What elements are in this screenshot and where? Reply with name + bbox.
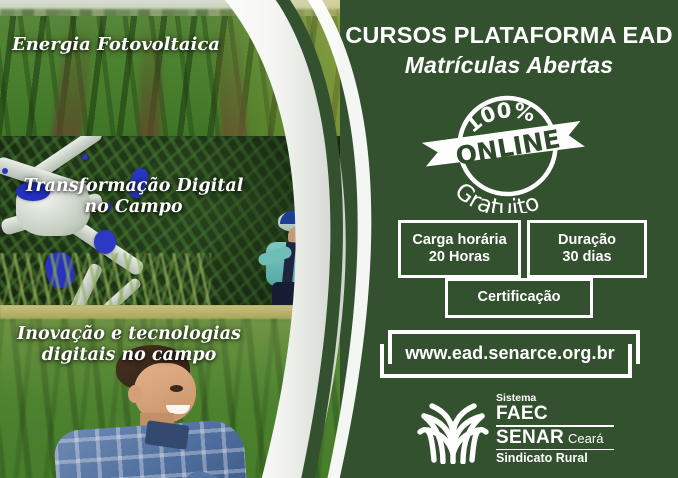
- info-box-label: Certificação: [477, 289, 560, 306]
- photo-energia-fotovoltaica: [0, 0, 340, 136]
- website-url-box[interactable]: www.ead.senarce.org.br: [376, 330, 644, 382]
- farmer-eye: [170, 385, 183, 392]
- caption-line-2: digitais no campo: [10, 345, 248, 366]
- online-gratuito-badge: 100% ONLINE Gratuito: [418, 88, 598, 213]
- logo-ceara-label: Ceará: [568, 431, 603, 447]
- info-box-label: Duração: [558, 232, 616, 249]
- info-box-value: 30 dias: [562, 249, 611, 266]
- info-box-carga-horaria: Carga horária 20 Horas: [398, 220, 521, 278]
- info-box-label: Carga horária: [412, 232, 506, 249]
- photo-caption-inovacao: Inovação e tecnologias digitais no campo: [10, 324, 248, 367]
- wheat-basket-icon: [416, 394, 490, 464]
- drone-photo-graphic: [0, 136, 340, 305]
- worker-figure: [258, 210, 336, 305]
- logo-faec-label: FAEC: [496, 404, 616, 424]
- website-url-text[interactable]: www.ead.senarce.org.br: [376, 343, 644, 364]
- warm-light-overlay: [204, 0, 340, 136]
- content-panel: CURSOS PLATAFORMA EAD Matrículas Abertas…: [340, 0, 678, 478]
- caption-line-1: Energia Fotovoltaica: [12, 34, 220, 56]
- field-photo-graphic: [0, 0, 340, 136]
- caption-line-2: no Campo: [16, 197, 251, 218]
- drone-led: [82, 154, 88, 160]
- logo-divider: [496, 449, 614, 451]
- drone-blue-accent: [94, 230, 116, 254]
- worker-legs: [272, 282, 322, 305]
- info-box-duracao: Duração 30 dias: [527, 220, 647, 278]
- logo-senar-label: SENAR: [496, 428, 564, 448]
- page-title: CURSOS PLATAFORMA EAD: [340, 22, 678, 49]
- horizon-band: [0, 305, 340, 319]
- caption-line-1: Inovação e tecnologias: [10, 324, 248, 345]
- photo-caption-energia: Energia Fotovoltaica: [12, 34, 220, 56]
- logo-senar-row: SENAR Ceará: [496, 428, 616, 448]
- info-box-certificacao: Certificação: [445, 278, 593, 318]
- photo-collage: Energia Fotovoltaica Transformação Digit…: [0, 0, 340, 478]
- poster-canvas: Energia Fotovoltaica Transformação Digit…: [0, 0, 678, 478]
- photo-transformacao-digital: [0, 136, 340, 305]
- faec-senar-logo: Sistema FAEC SENAR Ceará Sindicato Rural: [416, 392, 616, 468]
- foreground-grass: [0, 253, 211, 305]
- caption-line-1: Transformação Digital: [16, 176, 251, 197]
- info-box-value: 20 Horas: [429, 249, 490, 266]
- page-subtitle: Matrículas Abertas: [340, 52, 678, 79]
- badge-bottom-text: Gratuito: [450, 178, 544, 213]
- farmer-ear: [128, 385, 142, 403]
- course-info-boxes: Carga horária 20 Horas Duração 30 dias C…: [390, 220, 660, 320]
- logo-sindicato-label: Sindicato Rural: [496, 451, 616, 466]
- logo-wordmark: Sistema FAEC SENAR Ceará Sindicato Rural: [496, 392, 616, 466]
- photo-caption-transformacao: Transformação Digital no Campo: [16, 176, 251, 219]
- drone-led: [2, 168, 8, 174]
